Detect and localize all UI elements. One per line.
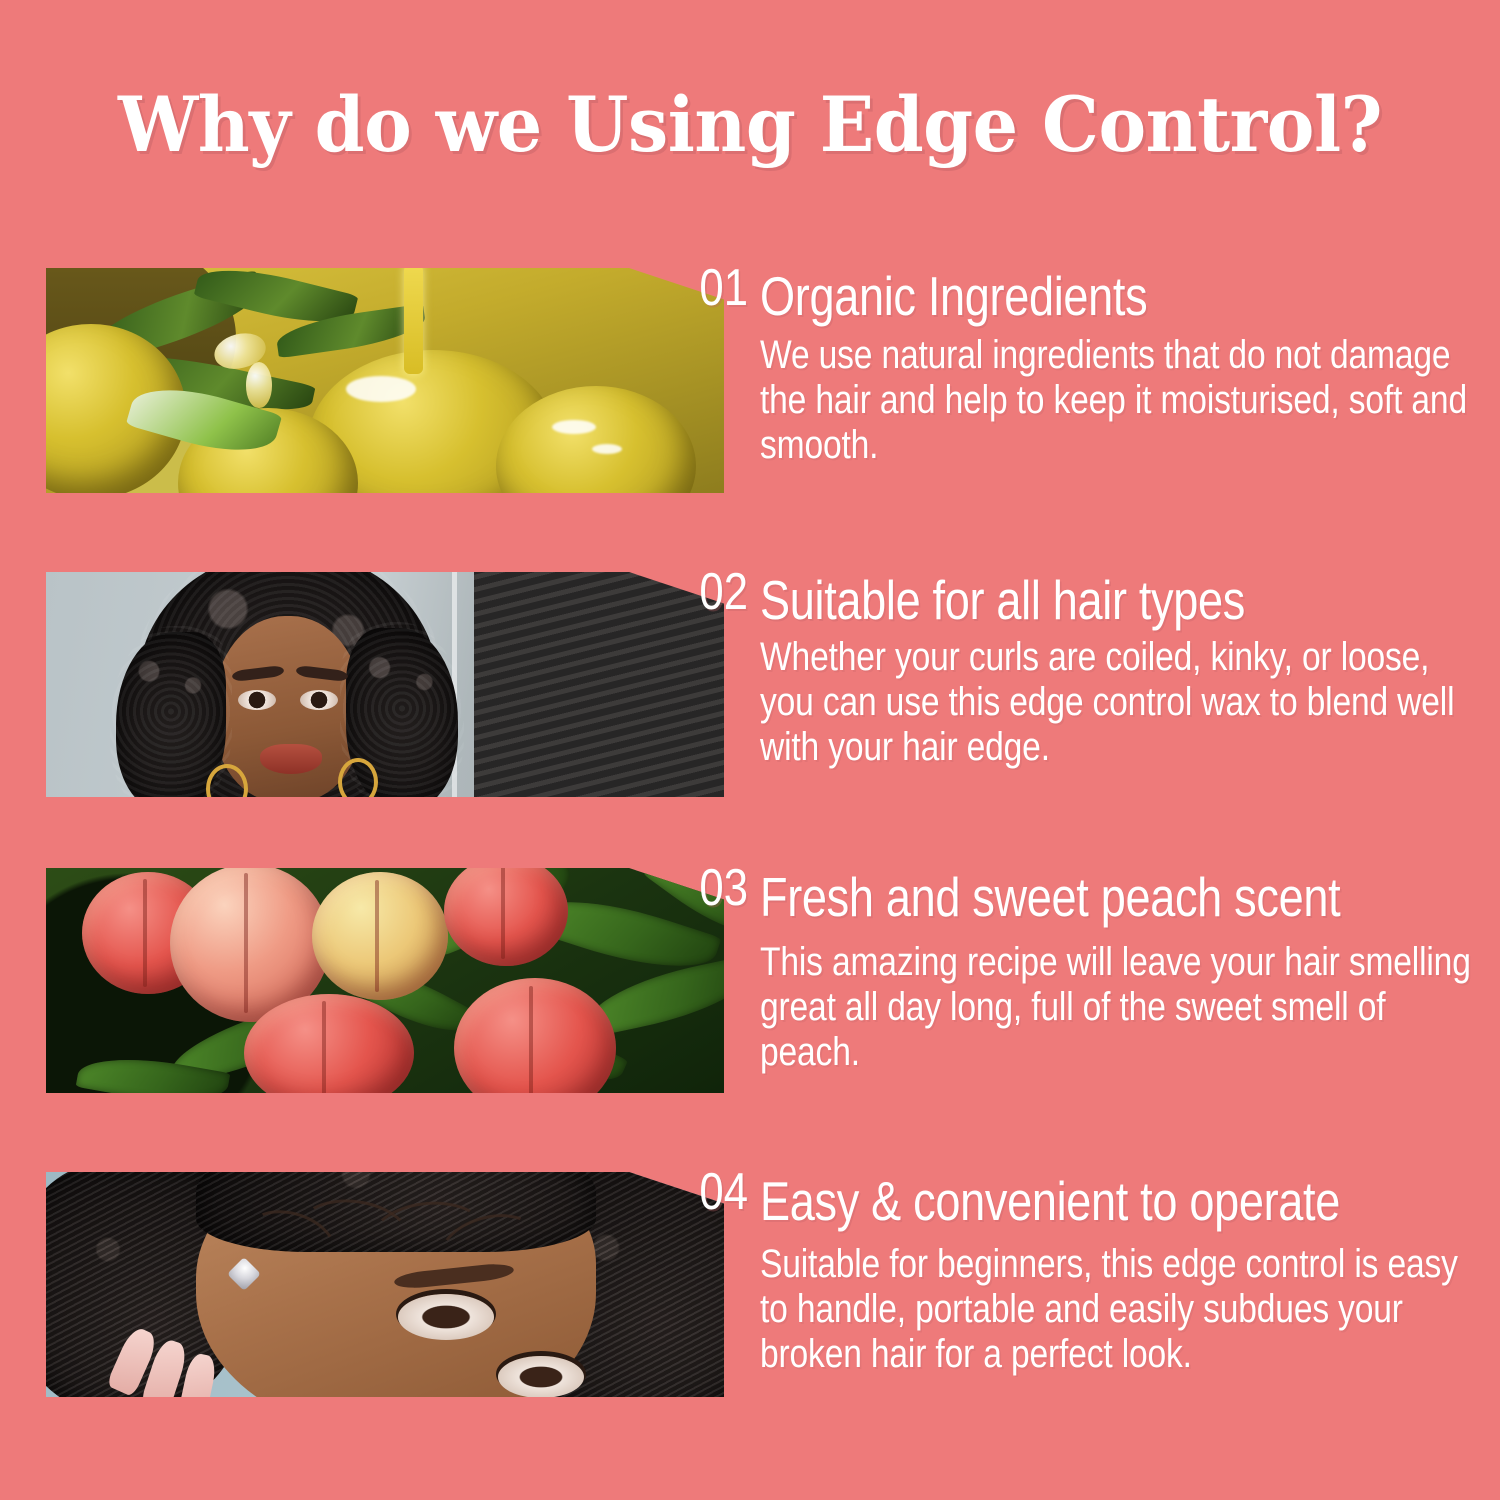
feature-row: 03 Fresh and sweet peach scent This amaz… xyxy=(0,868,1500,1173)
peach-scene xyxy=(46,868,724,1093)
feature-number: 02 xyxy=(664,564,748,620)
feature-body: Whether your curls are coiled, kinky, or… xyxy=(760,635,1480,770)
feature-copy: 04 Easy & convenient to operate Suitable… xyxy=(760,1172,1480,1377)
feature-image-closeup-edges xyxy=(46,1172,724,1397)
olive-scene xyxy=(46,268,724,493)
feature-headline: Suitable for all hair types xyxy=(760,572,1480,629)
feature-image-olives xyxy=(46,268,724,493)
feature-image-peaches xyxy=(46,868,724,1093)
feature-headline: Easy & convenient to operate xyxy=(760,1172,1480,1230)
feature-image-afro-portrait xyxy=(46,572,724,797)
feature-row: 02 Suitable for all hair types Whether y… xyxy=(0,572,1500,872)
feature-body: Suitable for beginners, this edge contro… xyxy=(760,1242,1480,1377)
feature-copy: 02 Suitable for all hair types Whether y… xyxy=(760,572,1480,770)
feature-row: 01 Organic Ingredients We use natural in… xyxy=(0,268,1500,568)
feature-number: 04 xyxy=(664,1164,748,1220)
feature-headline: Organic Ingredients xyxy=(760,268,1480,325)
portrait-scene xyxy=(46,572,724,797)
feature-number: 01 xyxy=(664,260,748,316)
feature-row: 04 Easy & convenient to operate Suitable… xyxy=(0,1172,1500,1492)
feature-body: We use natural ingredients that do not d… xyxy=(760,333,1480,468)
feature-headline: Fresh and sweet peach scent xyxy=(760,868,1480,926)
feature-copy: 03 Fresh and sweet peach scent This amaz… xyxy=(760,868,1480,1075)
infographic-poster: Why do we Using Edge Control? xyxy=(0,0,1500,1500)
closeup-scene xyxy=(46,1172,724,1397)
feature-number: 03 xyxy=(664,860,748,916)
feature-body: This amazing recipe will leave your hair… xyxy=(760,940,1480,1075)
page-title: Why do we Using Edge Control? xyxy=(45,82,1455,168)
feature-copy: 01 Organic Ingredients We use natural in… xyxy=(760,268,1480,468)
